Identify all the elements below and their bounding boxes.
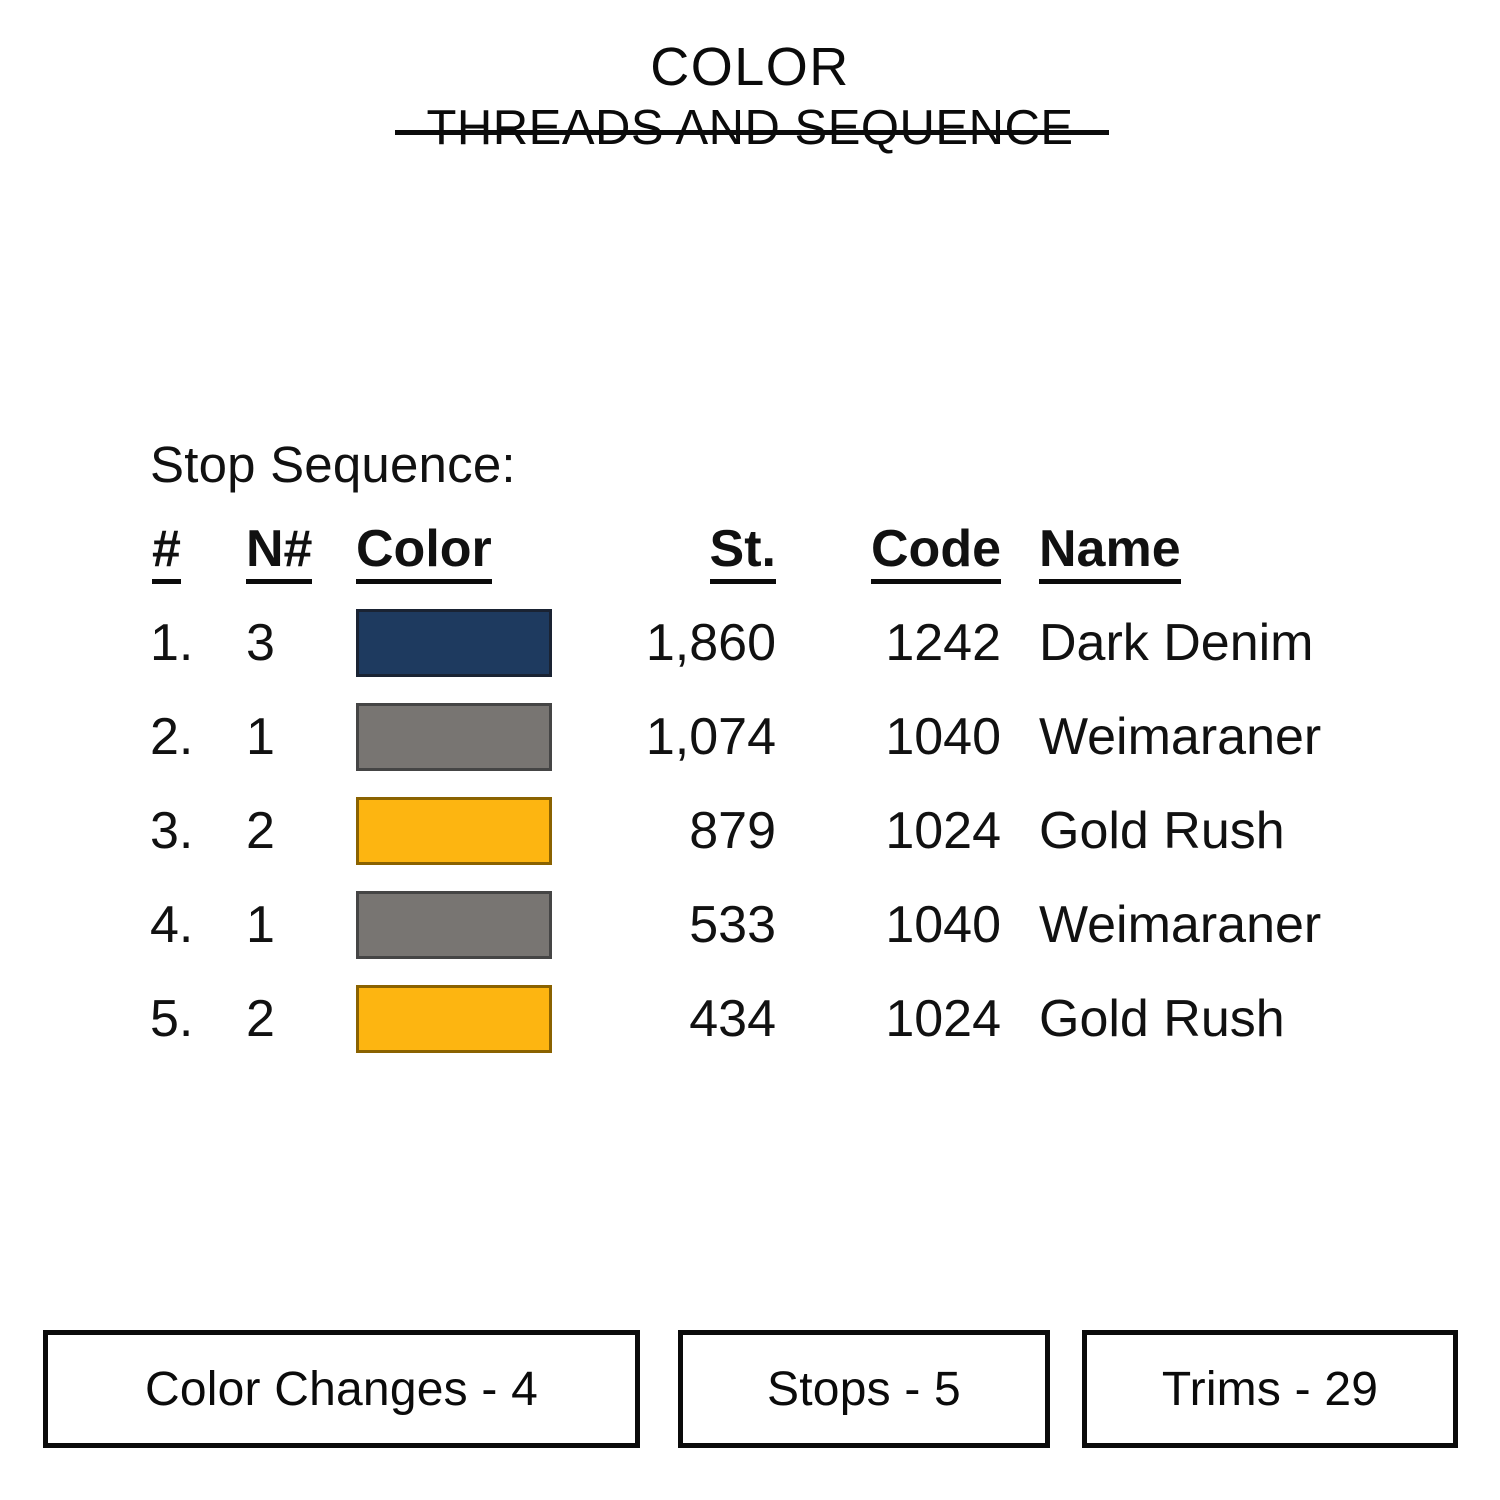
cell-index: 5.: [150, 972, 246, 1066]
cell-needle: 1: [246, 690, 356, 784]
cell-index: 3.: [150, 784, 246, 878]
cell-index: 1.: [150, 596, 246, 690]
cell-code: 1040: [776, 878, 1001, 972]
cell-color-swatch: [356, 784, 591, 878]
color-swatch: [356, 985, 552, 1053]
cell-index: 2.: [150, 690, 246, 784]
cell-name: Gold Rush: [1001, 784, 1321, 878]
cell-color-swatch: [356, 596, 591, 690]
cell-code: 1040: [776, 690, 1001, 784]
summary-trims-label: Trims - 29: [1162, 1362, 1378, 1417]
cell-stitches: 434: [591, 972, 776, 1066]
stop-sequence-caption: Stop Sequence:: [150, 437, 1410, 493]
column-header-index: #: [150, 519, 246, 596]
cell-needle: 1: [246, 878, 356, 972]
stop-sequence-table: # N# Color St. Code Name: [150, 519, 1321, 1066]
cell-code: 1024: [776, 972, 1001, 1066]
color-swatch: [356, 797, 552, 865]
header-divider-rule: [395, 130, 1109, 135]
cell-name: Weimaraner: [1001, 690, 1321, 784]
table-row: 5. 2 434 1024 Gold Rush: [150, 972, 1321, 1066]
cell-needle: 2: [246, 972, 356, 1066]
summary-trims: Trims - 29: [1082, 1330, 1458, 1448]
cell-stitches: 533: [591, 878, 776, 972]
table-header-row: # N# Color St. Code Name: [150, 519, 1321, 596]
color-swatch: [356, 891, 552, 959]
cell-color-swatch: [356, 878, 591, 972]
summary-color-changes-label: Color Changes - 4: [145, 1362, 538, 1417]
table-row: 2. 1 1,074 1040 Weimaraner: [150, 690, 1321, 784]
stop-sequence-section: Stop Sequence: # N# Color St. Code: [150, 437, 1410, 1066]
cell-color-swatch: [356, 972, 591, 1066]
column-header-stitches: St.: [591, 519, 776, 596]
color-swatch: [356, 703, 552, 771]
cell-name: Gold Rush: [1001, 972, 1321, 1066]
table-row: 3. 2 879 1024 Gold Rush: [150, 784, 1321, 878]
cell-code: 1242: [776, 596, 1001, 690]
cell-stitches: 1,860: [591, 596, 776, 690]
cell-color-swatch: [356, 690, 591, 784]
column-header-code: Code: [776, 519, 1001, 596]
cell-stitches: 879: [591, 784, 776, 878]
cell-needle: 3: [246, 596, 356, 690]
column-header-color: Color: [356, 519, 591, 596]
page-title: COLOR: [0, 38, 1500, 96]
page-subtitle: THREADS AND SEQUENCE: [0, 100, 1500, 156]
column-header-name: Name: [1001, 519, 1321, 596]
cell-stitches: 1,074: [591, 690, 776, 784]
summary-stops: Stops - 5: [678, 1330, 1050, 1448]
summary-stops-label: Stops - 5: [767, 1362, 961, 1417]
table-row: 1. 3 1,860 1242 Dark Denim: [150, 596, 1321, 690]
summary-color-changes: Color Changes - 4: [43, 1330, 640, 1448]
cell-code: 1024: [776, 784, 1001, 878]
cell-name: Weimaraner: [1001, 878, 1321, 972]
summary-bar: Color Changes - 4 Stops - 5 Trims - 29: [0, 1330, 1500, 1454]
cell-needle: 2: [246, 784, 356, 878]
cell-index: 4.: [150, 878, 246, 972]
cell-name: Dark Denim: [1001, 596, 1321, 690]
table-row: 4. 1 533 1040 Weimaraner: [150, 878, 1321, 972]
document-header: COLOR THREADS AND SEQUENCE: [0, 38, 1500, 156]
color-swatch: [356, 609, 552, 677]
column-header-needle: N#: [246, 519, 356, 596]
